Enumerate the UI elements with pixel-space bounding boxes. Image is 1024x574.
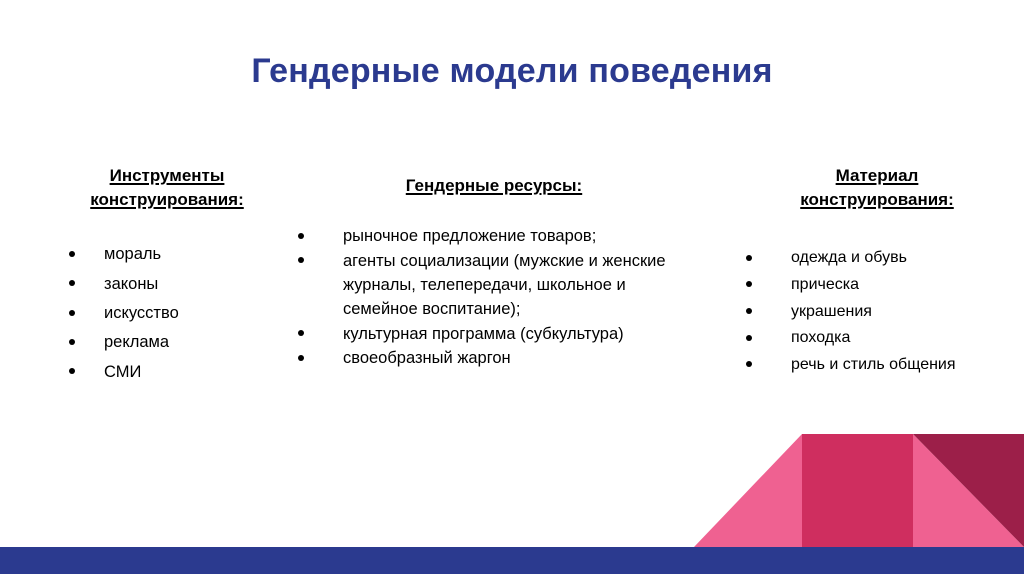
column-2-list: рыночное предложение товаров; агенты соц… [298,224,700,370]
bullet-dot-icon [746,335,752,341]
page-title: Гендерные модели поведения [0,52,1024,91]
bullet-dot-icon [69,251,75,257]
column-3-heading-line-1: Материал [836,166,919,185]
slide-canvas: Гендерные модели поведения Инструменты к… [0,0,1024,574]
column-1-heading-line-2: конструирования: [90,190,244,209]
list-item: СМИ [69,360,298,384]
list-item-label: украшения [791,300,1018,324]
column-gender-resources: Гендерные ресурсы: рыночное предложение … [288,174,700,371]
list-item: культурная программа (субкультура) [298,322,700,346]
list-item-label: агенты социализации (мужские и женские ж… [343,249,700,322]
list-item: походка [746,326,1018,350]
list-item-label: искусство [104,301,298,325]
bullet-dot-icon [298,330,304,336]
column-instruments: Инструменты конструирования: мораль зако… [36,164,298,389]
bullet-dot-icon [746,281,752,287]
list-item: украшения [746,300,1018,324]
list-item-label: культурная программа (субкультура) [343,322,700,346]
bottom-accent-bar [0,547,1024,574]
deco-center-crimson-rect [802,434,913,547]
deco-right-maroon-triangle [913,434,1024,547]
list-item: реклама [69,330,298,354]
bullet-dot-icon [298,355,304,361]
list-item-label: законы [104,272,298,296]
list-item-label: прическа [791,273,1018,297]
bullet-dot-icon [69,310,75,316]
bullet-dot-icon [746,255,752,261]
list-item: рыночное предложение товаров; [298,224,700,248]
deco-right-pink-triangle [913,434,1024,547]
list-item-label: своеобразный жаргон [343,346,700,370]
bullet-dot-icon [746,361,752,367]
list-item: искусство [69,301,298,325]
list-item-label: походка [791,326,1018,350]
column-1-heading-line-1: Инструменты [110,166,225,185]
column-material: Материал конструирования: одежда и обувь… [736,164,1018,380]
bullet-dot-icon [69,280,75,286]
column-3-list: одежда и обувь прическа украшения походк… [746,246,1018,376]
list-item: агенты социализации (мужские и женские ж… [298,249,700,322]
list-item: прическа [746,273,1018,297]
list-item: своеобразный жаргон [298,346,700,370]
column-3-heading-line-2: конструирования: [800,190,954,209]
list-item-label: рыночное предложение товаров; [343,224,700,248]
column-3-heading: Материал конструирования: [736,164,1018,212]
bullet-dot-icon [69,339,75,345]
column-2-heading: Гендерные ресурсы: [288,174,700,198]
column-2-heading-line-1: Гендерные ресурсы: [406,176,582,195]
bullet-dot-icon [298,257,304,263]
list-item: законы [69,272,298,296]
column-1-list: мораль законы искусство реклама СМИ [69,242,298,384]
column-1-heading: Инструменты конструирования: [36,164,298,212]
bullet-dot-icon [69,368,75,374]
list-item: одежда и обувь [746,246,1018,270]
bullet-dot-icon [298,233,304,239]
list-item: мораль [69,242,298,266]
list-item: речь и стиль общения [746,353,1018,377]
bullet-dot-icon [746,308,752,314]
list-item-label: речь и стиль общения [791,353,1018,377]
list-item-label: реклама [104,330,298,354]
deco-left-pink-triangle [694,434,802,547]
list-item-label: СМИ [104,360,298,384]
list-item-label: одежда и обувь [791,246,1018,270]
list-item-label: мораль [104,242,298,266]
